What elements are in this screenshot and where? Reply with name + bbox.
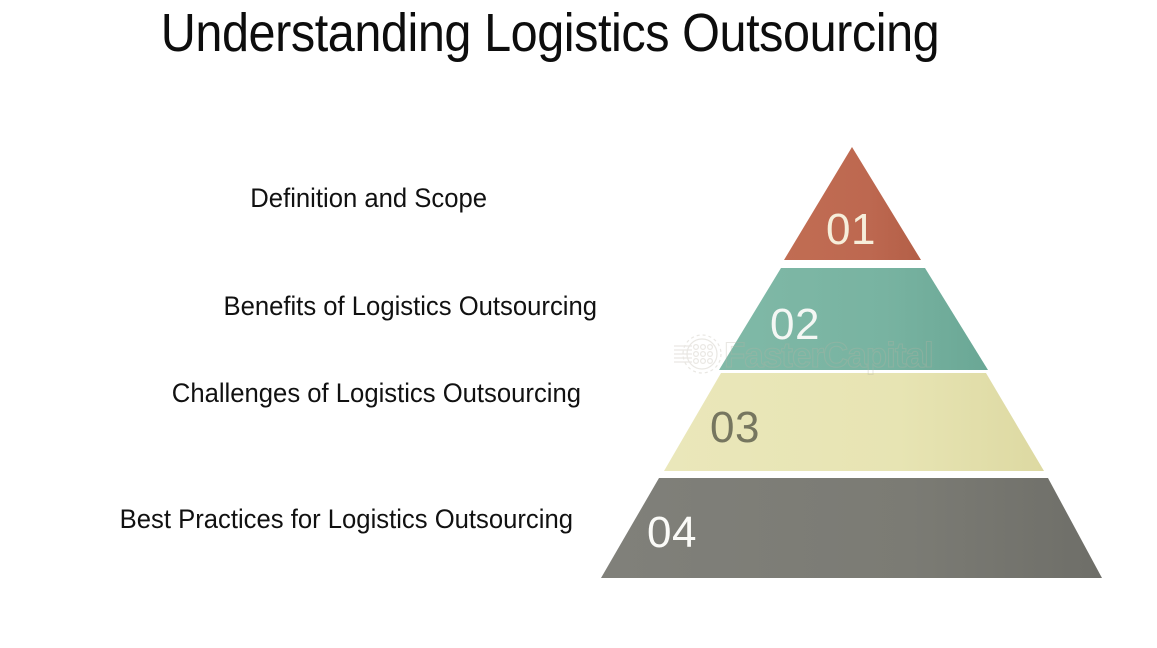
slide-canvas: Understanding Logistics Outsourcing Defi… bbox=[0, 0, 1157, 648]
pyramid-tier-01[interactable]: 01 bbox=[784, 147, 921, 260]
tier-label-challenges-of-logistics-outsourcing: Challenges of Logistics Outsourcing bbox=[29, 378, 581, 409]
pyramid-tier-01-shape[interactable] bbox=[784, 147, 921, 260]
pyramid-tier-04-number: 04 bbox=[647, 508, 697, 557]
pyramid-tier-01-number: 01 bbox=[826, 205, 876, 254]
gear-circuit-icon bbox=[672, 332, 722, 380]
pyramid-tier-02-shape[interactable] bbox=[719, 268, 988, 370]
tier-label-definition-and-scope: Definition and Scope bbox=[24, 183, 487, 214]
page-title: Understanding Logistics Outsourcing bbox=[55, 2, 1045, 64]
watermark-text: FasterCapital bbox=[724, 336, 933, 376]
pyramid-tier-03-shape[interactable] bbox=[664, 373, 1044, 471]
pyramid-tier-02-number: 02 bbox=[770, 300, 820, 349]
pyramid-tier-03-number: 03 bbox=[710, 403, 760, 452]
pyramid-tier-04-shape[interactable] bbox=[601, 478, 1102, 578]
pyramid-tier-02[interactable]: 02 bbox=[719, 268, 988, 370]
pyramid-tier-03[interactable]: 03 bbox=[664, 373, 1044, 471]
watermark: FasterCapital bbox=[672, 332, 1002, 382]
pyramid-diagram: 01 02 03 04 bbox=[0, 0, 1157, 648]
tier-label-best-practices-for-logistics-outsourcing: Best Practices for Logistics Outsourcing bbox=[29, 504, 573, 535]
pyramid-tier-04[interactable]: 04 bbox=[601, 478, 1102, 578]
tier-label-benefits-of-logistics-outsourcing: Benefits of Logistics Outsourcing bbox=[30, 291, 597, 322]
